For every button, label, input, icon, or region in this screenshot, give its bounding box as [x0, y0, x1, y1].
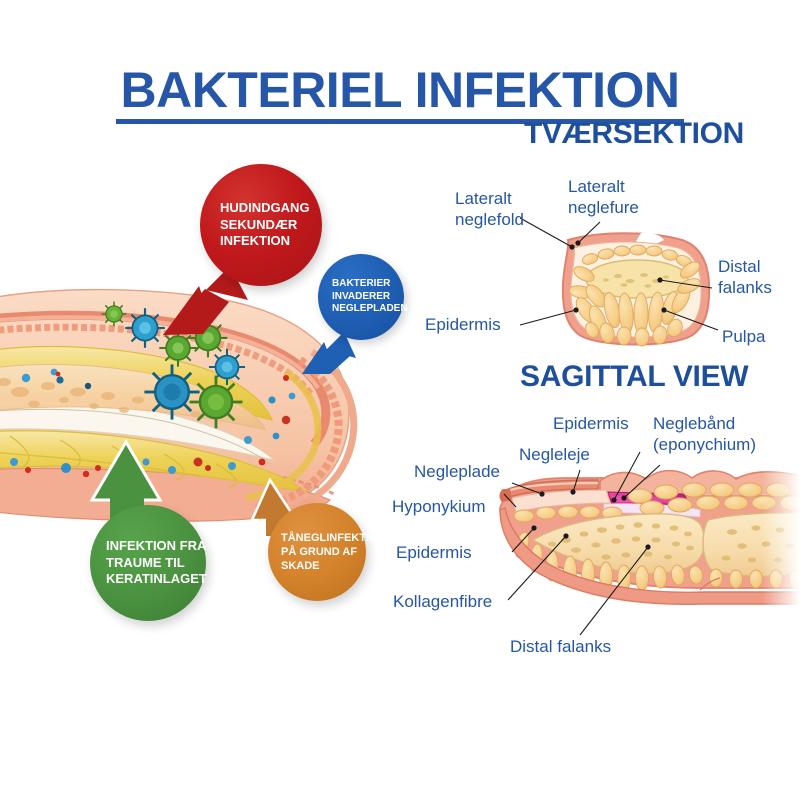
- label-distal-falanks-sagittal: Distal falanks: [510, 636, 611, 657]
- callout-taaneglinfektion-label: TÅNEGLINFEKTION PÅ GRUND AF SKADE: [281, 531, 366, 573]
- callout-taaneglinfektion[interactable]: TÅNEGLINFEKTION PÅ GRUND AF SKADE: [268, 503, 366, 601]
- label-neglebaand-eponychium: Neglebånd (eponychium): [653, 413, 756, 456]
- callout-bakterier-invaderer[interactable]: BAKTERIER INVADERER NEGLEPLADEN: [318, 254, 404, 340]
- label-kollagenfibre: Kollagenfibre: [393, 591, 492, 612]
- callout-hudindgang-label: HUDINDGANG SEKUNDÆR INFEKTION: [220, 200, 322, 250]
- label-epidermis-sagittal-top: Epidermis: [553, 413, 629, 434]
- label-epidermis-sagittal-bottom: Epidermis: [396, 542, 472, 563]
- callout-bakterier-invaderer-label: BAKTERIER INVADERER NEGLEPLADEN: [332, 278, 404, 316]
- label-pulpa: Pulpa: [722, 326, 765, 347]
- label-hyponykium: Hyponykium: [392, 496, 486, 517]
- callout-infektion-traume-label: INFEKTION FRA TRAUME TIL KERATINLAGET: [106, 538, 206, 588]
- page-title: BAKTERIEL INFEKTION: [116, 64, 683, 125]
- label-negleleje: Negleleje: [519, 444, 590, 465]
- sagittal-illustration: [499, 452, 800, 635]
- label-distal-falanks-cross: Distal falanks: [718, 256, 772, 299]
- section-heading-sagittal-view: SAGITTAL VIEW: [520, 360, 748, 394]
- label-epidermis-cross: Epidermis: [425, 314, 501, 335]
- callout-infektion-traume[interactable]: INFEKTION FRA TRAUME TIL KERATINLAGET: [90, 505, 206, 621]
- label-negleplade: Negleplade: [414, 461, 500, 482]
- infected-toe-illustration: [0, 266, 356, 536]
- cross-section-illustration: [520, 218, 718, 346]
- label-lateralt-neglefold: Lateralt neglefold: [455, 188, 524, 231]
- section-heading-cross-section: TVÆRSEKTION: [524, 117, 744, 151]
- label-lateralt-neglefure: Lateralt neglefure: [568, 176, 639, 219]
- callout-hudindgang[interactable]: HUDINDGANG SEKUNDÆR INFEKTION: [200, 164, 322, 286]
